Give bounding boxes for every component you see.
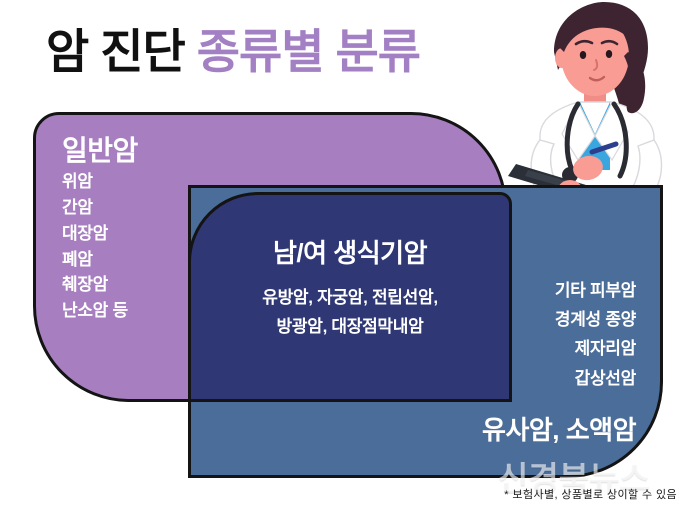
list-item: 대장암 [62,225,128,243]
list-item: 난소암 등 [62,302,128,320]
page-title: 암 진단 종류별 분류 [46,18,546,84]
list-item: 제자리암 [555,334,636,363]
list-item: 경계성 종양 [555,305,636,334]
eye-right [606,50,612,58]
general-heading: 일반암 [62,129,138,169]
eye-left [580,51,586,59]
footnote: * 보험사별, 상품별로 상이할 수 있음 [504,486,677,502]
page-title-secondary: 종류별 분류 [197,28,420,75]
list-item: 방광암, 대장점막내암 [191,312,509,341]
page-title-primary: 암 진단 [46,28,185,75]
category-box-reproductive[interactable]: 남/여 생식기암 유방암, 자궁암, 전립선암, 방광암, 대장점막내암 [188,192,512,402]
doctor-illustration [492,0,693,200]
reproductive-heading: 남/여 생식기암 [191,233,509,270]
list-item: 췌장암 [62,276,128,294]
general-item-list: 위암 간암 대장암 폐암 췌장암 난소암 등 [62,173,128,320]
similar-heading: 유사암, 소액암 [482,410,636,447]
list-item: 갑상선암 [555,364,636,393]
reproductive-item-list: 유방암, 자궁암, 전립선암, 방광암, 대장점막내암 [191,283,509,341]
similar-item-list: 기타 피부암 경계성 종양 제자리암 갑상선암 [555,276,636,393]
list-item: 위암 [62,173,128,191]
list-item: 유방암, 자궁암, 전립선암, [191,283,509,312]
list-item: 폐암 [62,251,128,269]
list-item: 간암 [62,199,128,217]
list-item: 기타 피부암 [555,276,636,305]
ear-shape [555,48,569,68]
infographic-canvas: 암 진단 종류별 분류 [0,0,693,508]
